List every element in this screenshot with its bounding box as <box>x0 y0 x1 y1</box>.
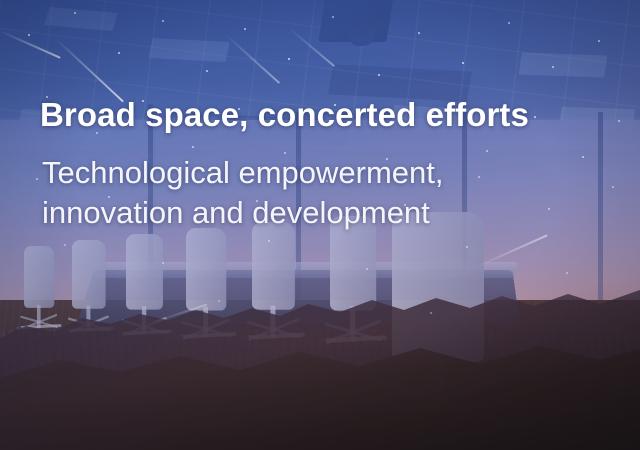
banner-subheading: Technological empowerment, innovation an… <box>42 153 620 234</box>
banner-subheading-line-2: innovation and development <box>42 193 620 233</box>
banner-headline: Broad space, concerted efforts <box>40 96 620 135</box>
banner-copy: Broad space, concerted efforts Technolog… <box>40 96 620 234</box>
banner-subheading-line-1: Technological empowerment, <box>42 155 444 190</box>
hero-banner: Broad space, concerted efforts Technolog… <box>0 0 640 450</box>
